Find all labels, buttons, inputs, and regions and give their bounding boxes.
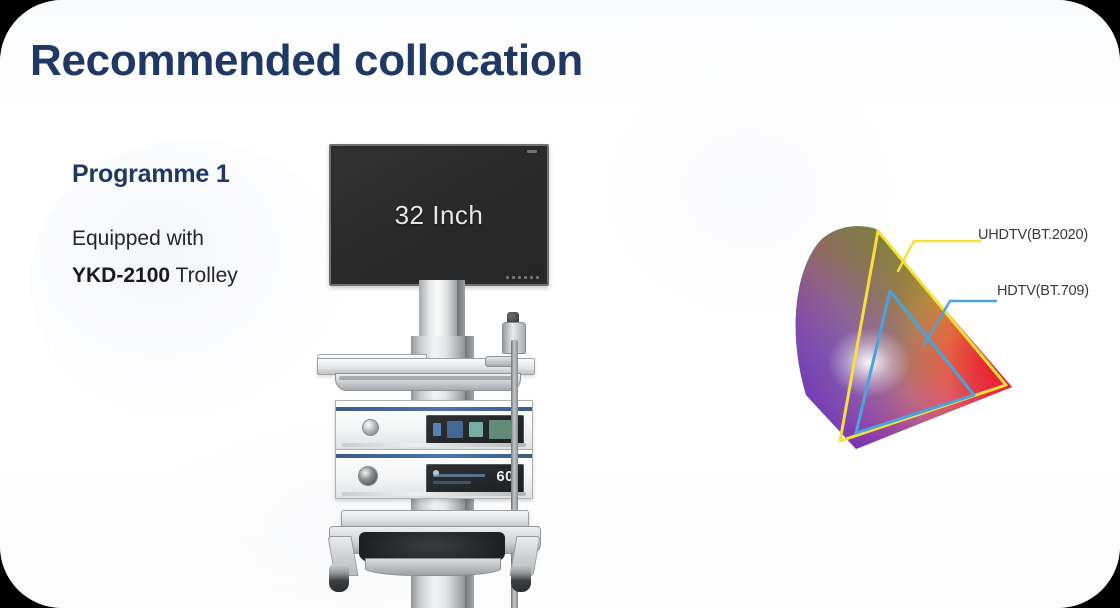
legend-label-uhdtv: UHDTV(BT.2020) xyxy=(978,227,1088,243)
chromaticity-svg xyxy=(780,205,1030,465)
device-foot-rail xyxy=(342,443,526,447)
monitor-button-icon xyxy=(524,276,527,279)
monitor-neck xyxy=(419,280,457,344)
display-chip xyxy=(489,420,511,439)
device-unit-upper xyxy=(335,400,533,450)
device-display-lower: 60 xyxy=(426,464,524,494)
trolley-model-line: YKD-2100 Trolley xyxy=(72,258,322,295)
monitor-led-icon xyxy=(527,150,537,153)
caption-block: Programme 1 Equipped with YKD-2100 Troll… xyxy=(72,160,322,295)
gamut-spectral-locus xyxy=(780,205,1030,465)
trolley-caster-left xyxy=(329,564,349,592)
monitor-bezel: 32 Inch xyxy=(329,144,549,286)
trolley-illustration: 32 Inch xyxy=(315,140,595,592)
legend-label-hdtv: HDTV(BT.709) xyxy=(997,283,1089,299)
monitor-button-icon xyxy=(536,276,539,279)
trolley-model-suffix: Trolley xyxy=(170,264,238,287)
scope-pole-arm xyxy=(485,356,513,367)
device-port-icon xyxy=(358,466,378,486)
monitor-button-icon xyxy=(518,276,521,279)
display-chip xyxy=(447,421,463,438)
chromaticity-diagram xyxy=(780,205,1030,465)
slide-canvas: Recommended collocation Programme 1 Equi… xyxy=(0,0,1120,608)
monitor-button-icon xyxy=(512,276,515,279)
device-accent-stripe xyxy=(336,454,532,458)
monitor-button-icon xyxy=(530,276,533,279)
trolley-model-code: YKD-2100 xyxy=(72,264,170,287)
equipped-with-line: Equipped with xyxy=(72,221,322,258)
uhdtv-leader-line xyxy=(898,241,980,271)
monitor-screen-label: 32 Inch xyxy=(395,200,484,231)
monitor-button-icon xyxy=(506,276,509,279)
display-row xyxy=(433,481,471,484)
page-title: Recommended collocation xyxy=(30,36,583,86)
programme-heading: Programme 1 xyxy=(72,160,322,189)
monitor-button-row xyxy=(506,276,539,279)
trolley-base-rim xyxy=(365,558,501,576)
device-accent-stripe xyxy=(336,407,532,411)
display-chip xyxy=(433,423,441,436)
trolley-caster-right xyxy=(511,564,531,592)
device-display-upper xyxy=(426,415,524,445)
monitor-screen: 32 Inch xyxy=(334,149,544,281)
display-row xyxy=(433,474,485,477)
device-port-icon xyxy=(362,419,379,436)
device-foot-rail xyxy=(342,492,526,496)
trolley-tray-gap xyxy=(339,376,515,380)
device-unit-lower: 60 xyxy=(335,449,533,499)
display-chip xyxy=(469,422,483,437)
